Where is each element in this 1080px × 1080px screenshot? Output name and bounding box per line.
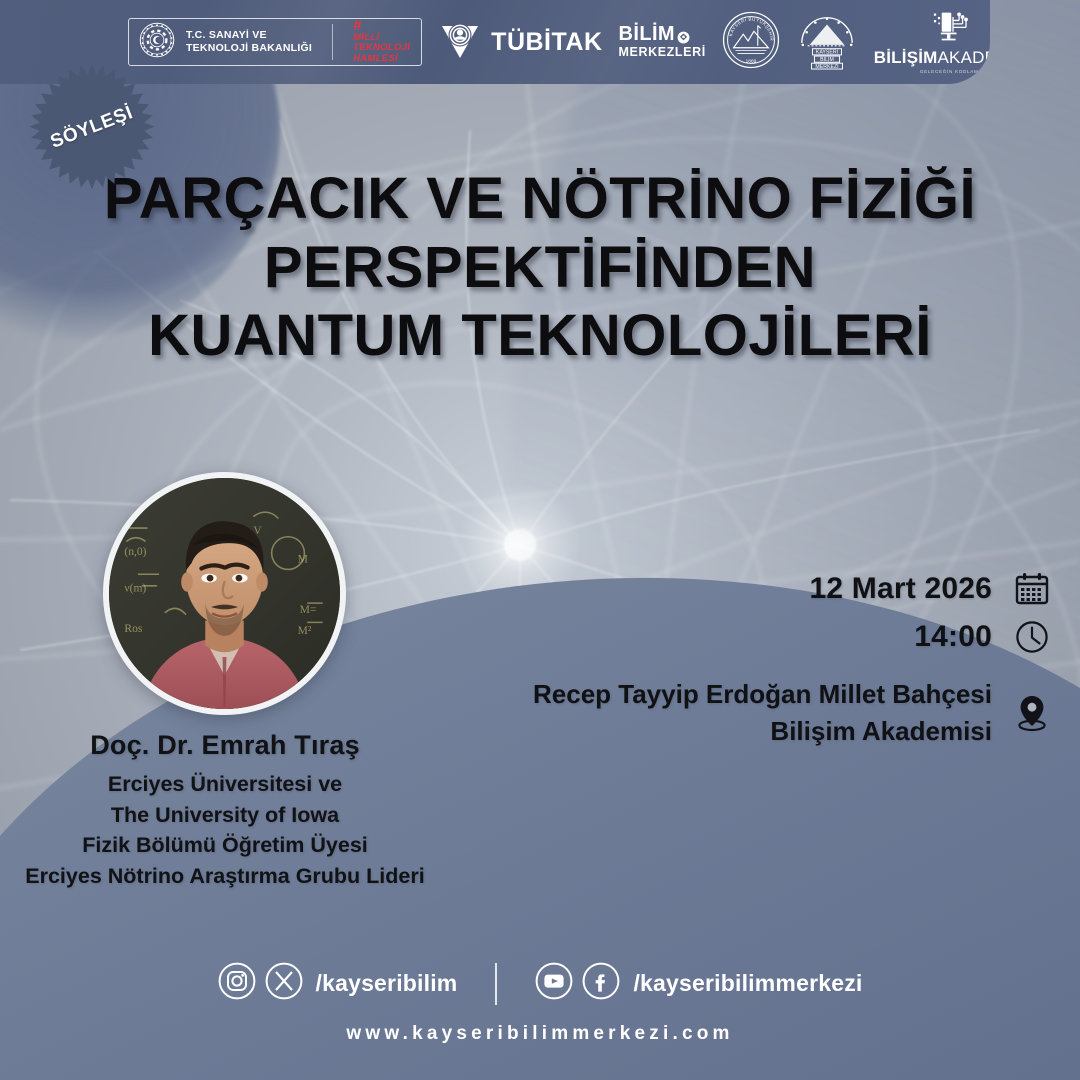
bilisim-akademisi-icon: [930, 10, 976, 48]
event-details: 12 Mart 2026: [432, 572, 1052, 750]
footer-divider: [495, 963, 497, 1005]
svg-text:Ros: Ros: [124, 623, 142, 635]
social-row: /kayseribilim /kayseribi: [218, 962, 863, 1005]
website-url[interactable]: www.kayseribilimmerkezi.com: [346, 1023, 733, 1045]
social-handle-kayseribilim[interactable]: /kayseribilim: [316, 970, 458, 997]
speaker-name: Doç. Dr. Emrah Tıraş: [0, 730, 450, 761]
event-venue-line-2: Bilişim Akademisi: [770, 716, 992, 746]
x-twitter-icon[interactable]: [265, 962, 303, 1005]
title-line-3: KUANTUM TEKNOLOJİLERİ: [0, 305, 1080, 368]
svg-text:BİLİM: BİLİM: [820, 56, 834, 63]
event-time: 14:00: [914, 620, 992, 654]
svg-text:ν(m): ν(m): [124, 583, 146, 595]
svg-text:M=: M=: [300, 604, 317, 616]
turkish-ministry-seal-icon: [139, 22, 175, 63]
social-group-kayseribilim: /kayseribilim: [218, 962, 458, 1005]
bilim-merkezleri-line2: MERKEZLERİ: [619, 45, 706, 59]
event-venue-row: Recep Tayyip Erdoğan Millet Bahçesi Bili…: [432, 676, 1052, 750]
youtube-icon[interactable]: [535, 962, 573, 1005]
svg-text:M²: M²: [298, 625, 312, 637]
facebook-icon[interactable]: [582, 962, 620, 1005]
svg-text:(n,0): (n,0): [124, 546, 146, 558]
milli-teknoloji-hamlesi-logo: # MİLLİ TEKNOLOJİ HAMLESİ: [353, 19, 410, 64]
speaker-portrait: (n,0) ν(m) M M= M² V Ros: [103, 472, 346, 715]
tubitak-logo-icon: [438, 18, 482, 67]
svg-text:M: M: [298, 554, 308, 566]
ministry-logo-block: T.C. SANAYİ VE TEKNOLOJİ BAKANLIĞI # MİL…: [128, 18, 422, 66]
kayseri-municipality-seal-icon: KAYSERİ BÜYÜKŞEHİR BELEDİYESİ 1869: [722, 11, 780, 74]
location-pin-icon: [1012, 694, 1052, 732]
speaker-affiliation-line-4: Erciyes Nötrino Araştırma Grubu Lideri: [0, 861, 450, 892]
event-poster: T.C. SANAYİ VE TEKNOLOJİ BAKANLIĞI # MİL…: [0, 0, 1080, 1080]
soylesi-badge: SÖYLEŞİ: [26, 62, 158, 194]
tubitak-logo-block: TÜBİTAK: [438, 18, 602, 67]
bilisim-akademisi-subtitle: GELECEĞİN KODLAMAYI BAŞLAMIŞTIR: [920, 69, 990, 74]
footer: /kayseribilim /kayseribi: [0, 950, 1080, 1080]
bilim-merkezleri-line1: BİLİM: [619, 24, 675, 44]
page-title: PARÇACIK VE NÖTRİNO FİZİĞİ PERSPEKTİFİND…: [0, 168, 1080, 368]
social-handle-kayseribilimmerkezi[interactable]: /kayseribilimmerkezi: [633, 970, 862, 997]
bilim-merkezleri-logo: BİLİM MERKEZLERİ: [619, 24, 706, 60]
instagram-icon[interactable]: [218, 962, 256, 1005]
ministry-divider: [332, 24, 333, 60]
speaker-photo: (n,0) ν(m) M M= M² V Ros: [109, 478, 340, 709]
title-line-1: PARÇACIK VE NÖTRİNO FİZİĞİ: [0, 168, 1080, 231]
svg-text:KAYSERİ BÜYÜKŞEHİR BELEDİYESİ: KAYSERİ BÜYÜKŞEHİR BELEDİYESİ: [722, 11, 775, 41]
svg-text:KAYSERİ: KAYSERİ: [816, 48, 838, 55]
ministry-label: T.C. SANAYİ VE TEKNOLOJİ BAKANLIĞI: [186, 29, 312, 55]
social-group-kayseribilimmerkezi: /kayseribilimmerkezi: [535, 962, 862, 1005]
calendar-icon: [1012, 572, 1052, 606]
bilisim-akademisi-label: BİLİŞİMAKADEMİSİ: [874, 48, 990, 68]
event-date-row: 12 Mart 2026: [432, 572, 1052, 606]
tubitak-label: TÜBİTAK: [491, 28, 602, 57]
title-line-2: PERSPEKTİFİNDEN: [0, 237, 1080, 300]
event-time-row: 14:00: [432, 620, 1052, 654]
event-venue: Recep Tayyip Erdoğan Millet Bahçesi Bili…: [533, 676, 992, 750]
event-date: 12 Mart 2026: [809, 572, 992, 606]
speaker-affiliation-line-3: Fizik Bölümü Öğretim Üyesi: [0, 830, 450, 861]
kayseri-science-center-icon: KAYSERİ BİLİM MERKEZİ: [796, 10, 858, 75]
svg-text:1869: 1869: [745, 58, 756, 64]
speaker-info: Doç. Dr. Emrah Tıraş Erciyes Üniversites…: [0, 730, 450, 891]
clock-icon: [1012, 620, 1052, 654]
svg-text:MERKEZİ: MERKEZİ: [815, 63, 838, 70]
event-venue-line-1: Recep Tayyip Erdoğan Millet Bahçesi: [533, 679, 992, 709]
bilisim-akademisi-logo: BİLİŞİMAKADEMİSİ GELECEĞİN KODLAMAYI BAŞ…: [874, 10, 990, 74]
speaker-affiliation: Erciyes Üniversitesi ve The University o…: [0, 769, 450, 891]
bilim-merkezleri-mark-icon: [677, 31, 690, 44]
speaker-affiliation-line-1: Erciyes Üniversitesi ve: [0, 769, 450, 800]
speaker-affiliation-line-2: The University of Iowa: [0, 800, 450, 831]
